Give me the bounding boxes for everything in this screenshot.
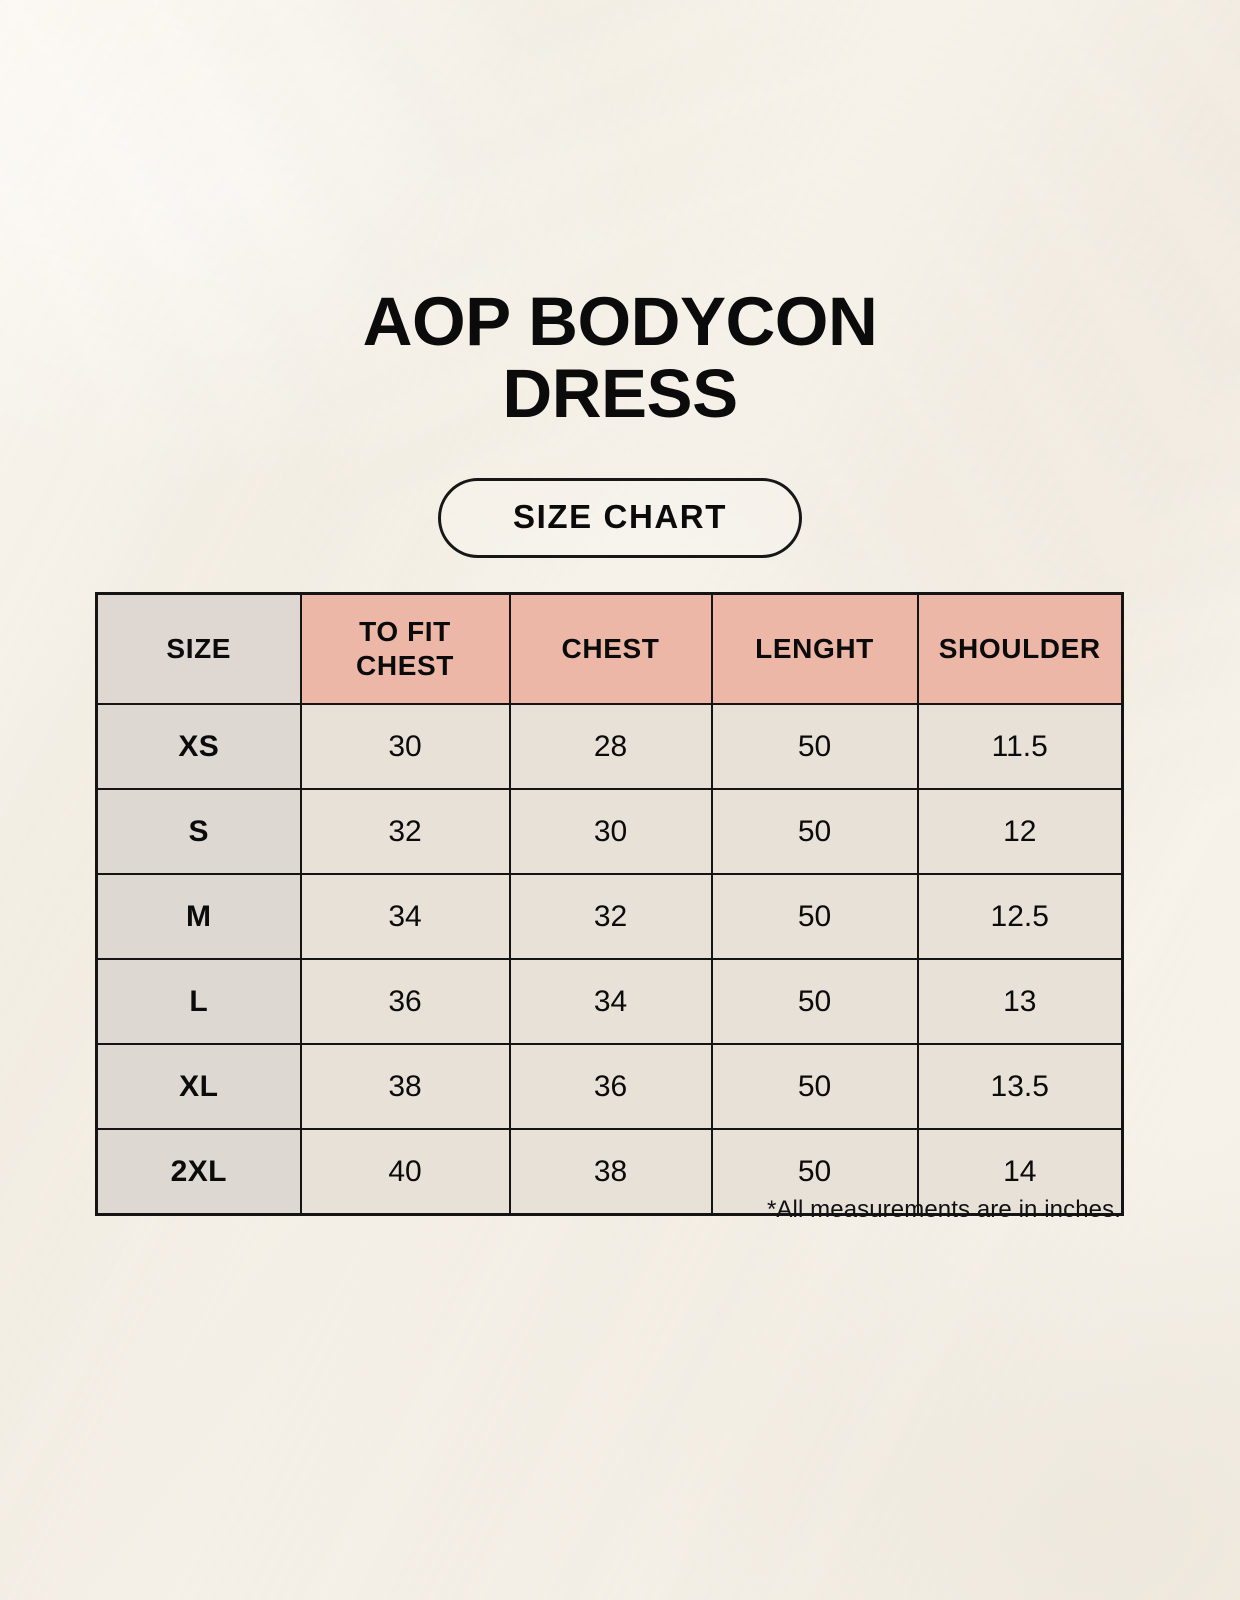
column-header-size-label: SIZE (166, 633, 231, 664)
cell-to-fit-chest: 30 (301, 704, 510, 789)
table-row: XL 38 36 50 13.5 (97, 1044, 1123, 1129)
column-header-size: SIZE (97, 594, 301, 705)
column-header-chest: CHEST (510, 594, 712, 705)
column-header-length-label: LENGHT (755, 633, 874, 664)
cell-shoulder: 12 (918, 789, 1123, 874)
cell-size: XL (97, 1044, 301, 1129)
cell-length: 50 (712, 789, 918, 874)
cell-length: 50 (712, 959, 918, 1044)
column-header-to-fit-chest-line1: TO FIT (308, 615, 503, 649)
cell-shoulder: 11.5 (918, 704, 1123, 789)
cell-size: M (97, 874, 301, 959)
cell-chest: 32 (510, 874, 712, 959)
cell-to-fit-chest: 34 (301, 874, 510, 959)
size-table: SIZE TO FIT CHEST CHEST LENGHT (95, 592, 1124, 1216)
cell-chest: 28 (510, 704, 712, 789)
cell-length: 50 (712, 874, 918, 959)
table-row: XS 30 28 50 11.5 (97, 704, 1123, 789)
cell-chest: 30 (510, 789, 712, 874)
cell-chest: 36 (510, 1044, 712, 1129)
size-table-container: SIZE TO FIT CHEST CHEST LENGHT (95, 592, 1121, 1216)
cell-to-fit-chest: 36 (301, 959, 510, 1044)
table-row: S 32 30 50 12 (97, 789, 1123, 874)
size-chart-page: AOP BODYCON DRESS SIZE CHART SIZE (0, 0, 1240, 1600)
cell-length: 50 (712, 704, 918, 789)
size-table-header: SIZE TO FIT CHEST CHEST LENGHT (97, 594, 1123, 705)
column-header-to-fit-chest: TO FIT CHEST (301, 594, 510, 705)
column-header-chest-label: CHEST (562, 633, 660, 664)
table-row: M 34 32 50 12.5 (97, 874, 1123, 959)
column-header-to-fit-chest-line2: CHEST (308, 649, 503, 683)
cell-length: 50 (712, 1044, 918, 1129)
cell-to-fit-chest: 32 (301, 789, 510, 874)
column-header-shoulder-label: SHOULDER (939, 633, 1101, 664)
size-chart-badge: SIZE CHART (438, 478, 802, 558)
cell-to-fit-chest: 38 (301, 1044, 510, 1129)
measurements-footnote: *All measurements are in inches. (95, 1196, 1121, 1224)
cell-size: L (97, 959, 301, 1044)
column-header-shoulder: SHOULDER (918, 594, 1123, 705)
cell-shoulder: 12.5 (918, 874, 1123, 959)
cell-chest: 34 (510, 959, 712, 1044)
table-header-row: SIZE TO FIT CHEST CHEST LENGHT (97, 594, 1123, 705)
table-row: L 36 34 50 13 (97, 959, 1123, 1044)
cell-shoulder: 13 (918, 959, 1123, 1044)
cell-shoulder: 13.5 (918, 1044, 1123, 1129)
size-table-body: XS 30 28 50 11.5 S 32 30 50 12 M (97, 704, 1123, 1215)
cell-size: XS (97, 704, 301, 789)
column-header-length: LENGHT (712, 594, 918, 705)
page-title: AOP BODYCON DRESS (0, 286, 1240, 430)
size-chart-badge-container: SIZE CHART (0, 478, 1240, 558)
cell-size: S (97, 789, 301, 874)
